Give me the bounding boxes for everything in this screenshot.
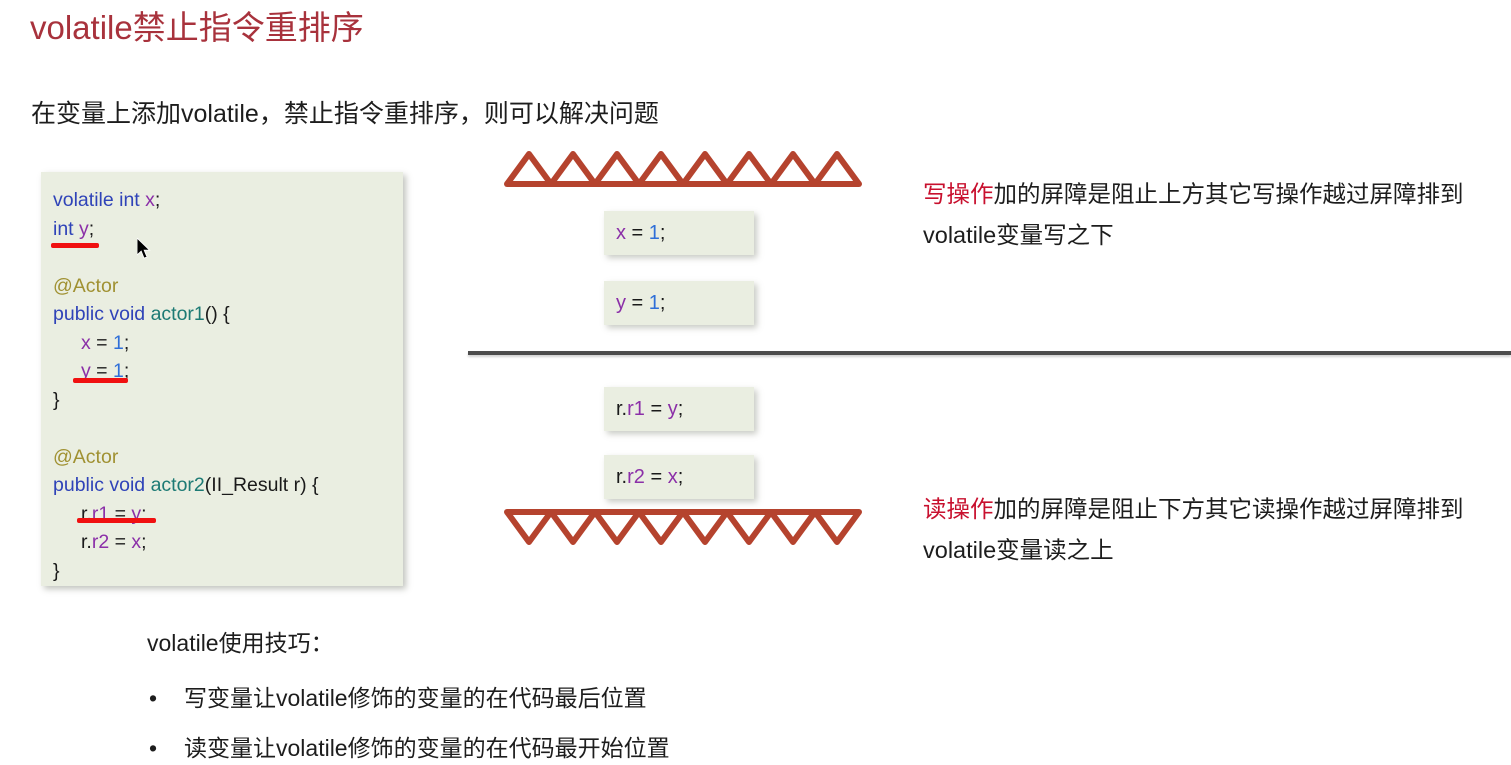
code-line: } (53, 557, 403, 586)
code-token: y (616, 290, 626, 316)
code-token: ; (89, 218, 94, 240)
section-divider (468, 351, 1511, 355)
code-token: ; (141, 531, 146, 553)
read-annotation-rest: 加的屏障是阻止下方其它读操作越过屏障排到volatile变量读之上 (923, 496, 1464, 563)
read-annotation-highlight: 读操作 (923, 496, 994, 522)
code-line: r.r2 = x; (53, 528, 403, 557)
code-token: x (616, 220, 626, 246)
barrier-tooth (639, 154, 683, 184)
code-token: 1 (649, 290, 660, 316)
code-token: (II_Result r) { (205, 474, 319, 496)
code-token: public (53, 303, 104, 325)
write-barrier-annotation: 写操作加的屏障是阻止上方其它写操作越过屏障排到volatile变量写之下 (923, 174, 1511, 256)
code-token: ; (660, 290, 666, 316)
barrier-tooth (551, 512, 595, 542)
barrier-tooth (683, 512, 727, 542)
barrier-tooth (595, 512, 639, 542)
code-token: ; (155, 189, 160, 211)
code-token: ; (660, 220, 666, 246)
code-token: volatile (53, 189, 114, 211)
barrier-tooth (815, 154, 859, 184)
code-token: = (626, 290, 649, 316)
code-token: int (53, 218, 74, 240)
code-line: @Actor (53, 443, 403, 472)
code-token: x (668, 464, 678, 490)
barrier-tooth (639, 512, 683, 542)
code-token: ; (678, 464, 684, 490)
barrier-tooth (727, 154, 771, 184)
tip-bullet-icon: • (149, 681, 157, 715)
code-line: } (53, 386, 403, 415)
barrier-tooth (727, 512, 771, 542)
code-line: public void actor2(II_Result r) { (53, 471, 403, 500)
code-token: } (53, 560, 60, 582)
code-line: r.r1 = y; (53, 500, 403, 529)
code-token: r2 (92, 531, 109, 553)
tips-title: volatile使用技巧： (147, 626, 334, 660)
barrier-tooth (815, 512, 859, 542)
code-token: r1 (627, 396, 645, 422)
write-barrier-icon (504, 148, 862, 190)
code-token: r. (616, 464, 627, 490)
barrier-tooth (683, 154, 727, 184)
code-token: = (626, 220, 649, 246)
tip-item-write: 写变量让volatile修饰的变量的在代码最后位置 (184, 681, 647, 715)
page-title: volatile禁止指令重排序 (30, 6, 364, 50)
op-box-x-assign: x = 1; (604, 211, 754, 255)
code-token: y (668, 396, 678, 422)
code-token: void (109, 303, 145, 325)
code-lines: volatile int x;int y;@Actorpublic void a… (53, 186, 403, 585)
code-token: actor2 (151, 474, 205, 496)
code-token: = (645, 464, 668, 490)
code-token: r2 (627, 464, 645, 490)
code-line: @Actor (53, 272, 403, 301)
red-underline-y-eq-1 (73, 378, 128, 383)
code-token: @Actor (53, 275, 118, 297)
code-line (53, 243, 403, 272)
code-token: public (53, 474, 104, 496)
op-box-r1-assign: r.r1 = y; (604, 387, 754, 431)
code-line: x = 1; (53, 329, 403, 358)
red-underline-int-y (51, 243, 99, 248)
barrier-tooth (507, 512, 551, 542)
code-token: r. (81, 531, 92, 553)
red-underline-rr1-y (77, 518, 156, 523)
op-box-r2-assign: r.r2 = x; (604, 455, 754, 499)
code-line: public void actor1() { (53, 300, 403, 329)
mouse-cursor-icon (137, 238, 153, 262)
code-token: y (79, 218, 89, 240)
code-token: x (145, 189, 155, 211)
code-token: int (119, 189, 140, 211)
write-annotation-rest: 加的屏障是阻止上方其它写操作越过屏障排到volatile变量写之下 (923, 181, 1464, 248)
code-line: volatile int x; (53, 186, 403, 215)
code-token: () { (205, 303, 230, 325)
code-line: int y; (53, 215, 403, 244)
op-box-y-assign: y = 1; (604, 281, 754, 325)
code-token: ; (124, 332, 129, 354)
code-token: ; (678, 396, 684, 422)
code-token: x (131, 531, 141, 553)
code-token: = (91, 332, 113, 354)
barrier-tooth (771, 512, 815, 542)
barrier-tooth (507, 154, 551, 184)
code-token: 1 (649, 220, 660, 246)
read-barrier-icon (504, 506, 862, 548)
code-token: x (81, 332, 91, 354)
code-token: 1 (113, 332, 124, 354)
code-line (53, 414, 403, 443)
tip-item-read: 读变量让volatile修饰的变量的在代码最开始位置 (184, 731, 670, 765)
code-token: actor1 (151, 303, 205, 325)
lead-paragraph: 在变量上添加volatile，禁止指令重排序，则可以解决问题 (31, 94, 659, 134)
barrier-tooth (771, 154, 815, 184)
read-barrier-annotation: 读操作加的屏障是阻止下方其它读操作越过屏障排到volatile变量读之上 (923, 489, 1511, 571)
code-token: r. (616, 396, 627, 422)
code-token: = (645, 396, 668, 422)
code-token: void (109, 474, 145, 496)
code-token: = (109, 531, 131, 553)
code-token: @Actor (53, 446, 118, 468)
barrier-tooth (551, 154, 595, 184)
tip-bullet-icon: • (149, 731, 157, 765)
barrier-tooth (595, 154, 639, 184)
write-annotation-highlight: 写操作 (923, 181, 994, 207)
code-token: } (53, 389, 60, 411)
